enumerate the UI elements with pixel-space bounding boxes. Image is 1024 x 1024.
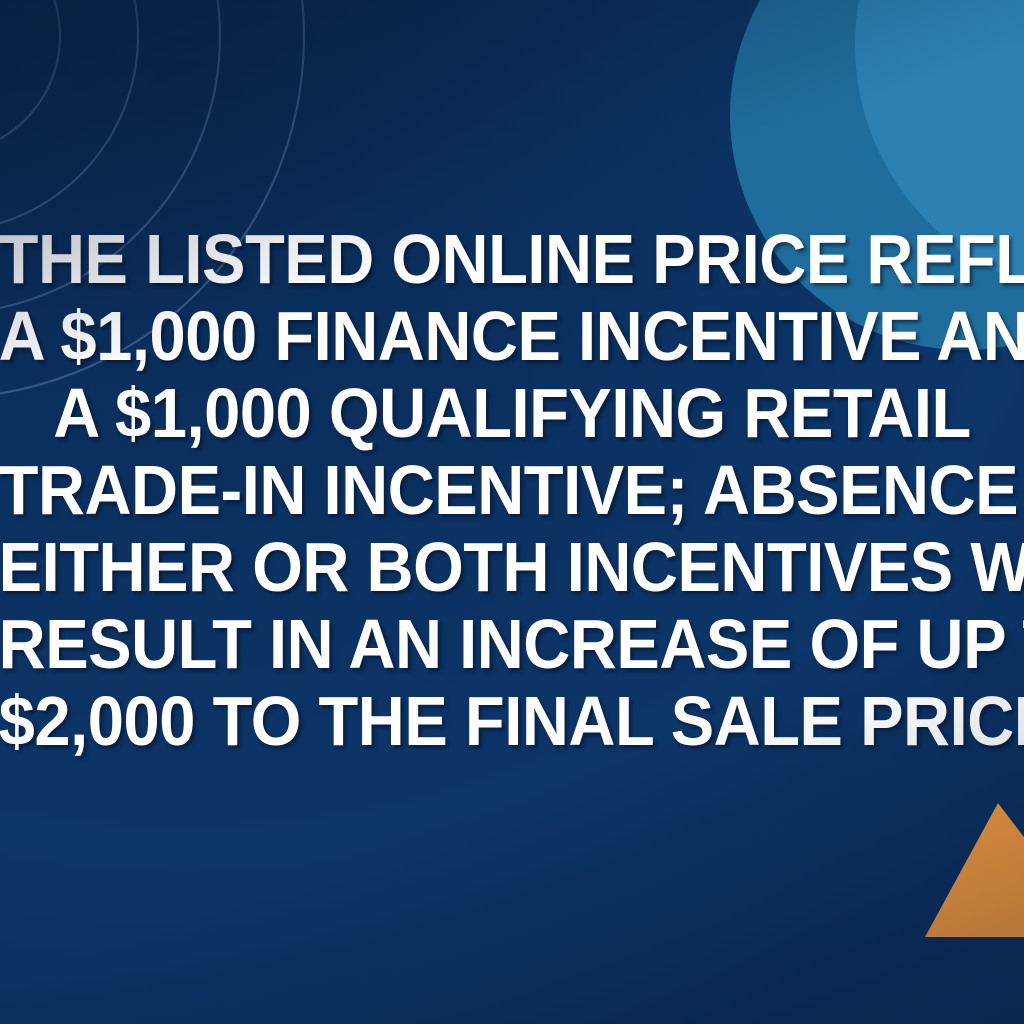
headline-line-1: THE LISTED ONLINE PRICE REFLECTS xyxy=(0,221,1024,298)
disclaimer-headline: THE LISTED ONLINE PRICE REFLECTS A $1,00… xyxy=(0,221,1024,760)
headline-line-3: A $1,000 QUALIFYING RETAIL xyxy=(0,375,1024,452)
triangle-shape xyxy=(925,803,1024,937)
headline-line-6: RESULT IN AN INCREASE OF UP TO xyxy=(0,606,1024,683)
accent-triangle-decoration xyxy=(900,790,1024,940)
promo-graphic-canvas: THE LISTED ONLINE PRICE REFLECTS A $1,00… xyxy=(0,0,1024,1024)
headline-line-5: EITHER OR BOTH INCENTIVES WILL xyxy=(0,529,1024,606)
headline-line-4: TRADE-IN INCENTIVE; ABSENCE OF xyxy=(0,452,1024,529)
headline-line-7: $2,000 TO THE FINAL SALE PRICE. xyxy=(0,683,1024,760)
headline-line-2: A $1,000 FINANCE INCENTIVE AND xyxy=(0,298,1024,375)
